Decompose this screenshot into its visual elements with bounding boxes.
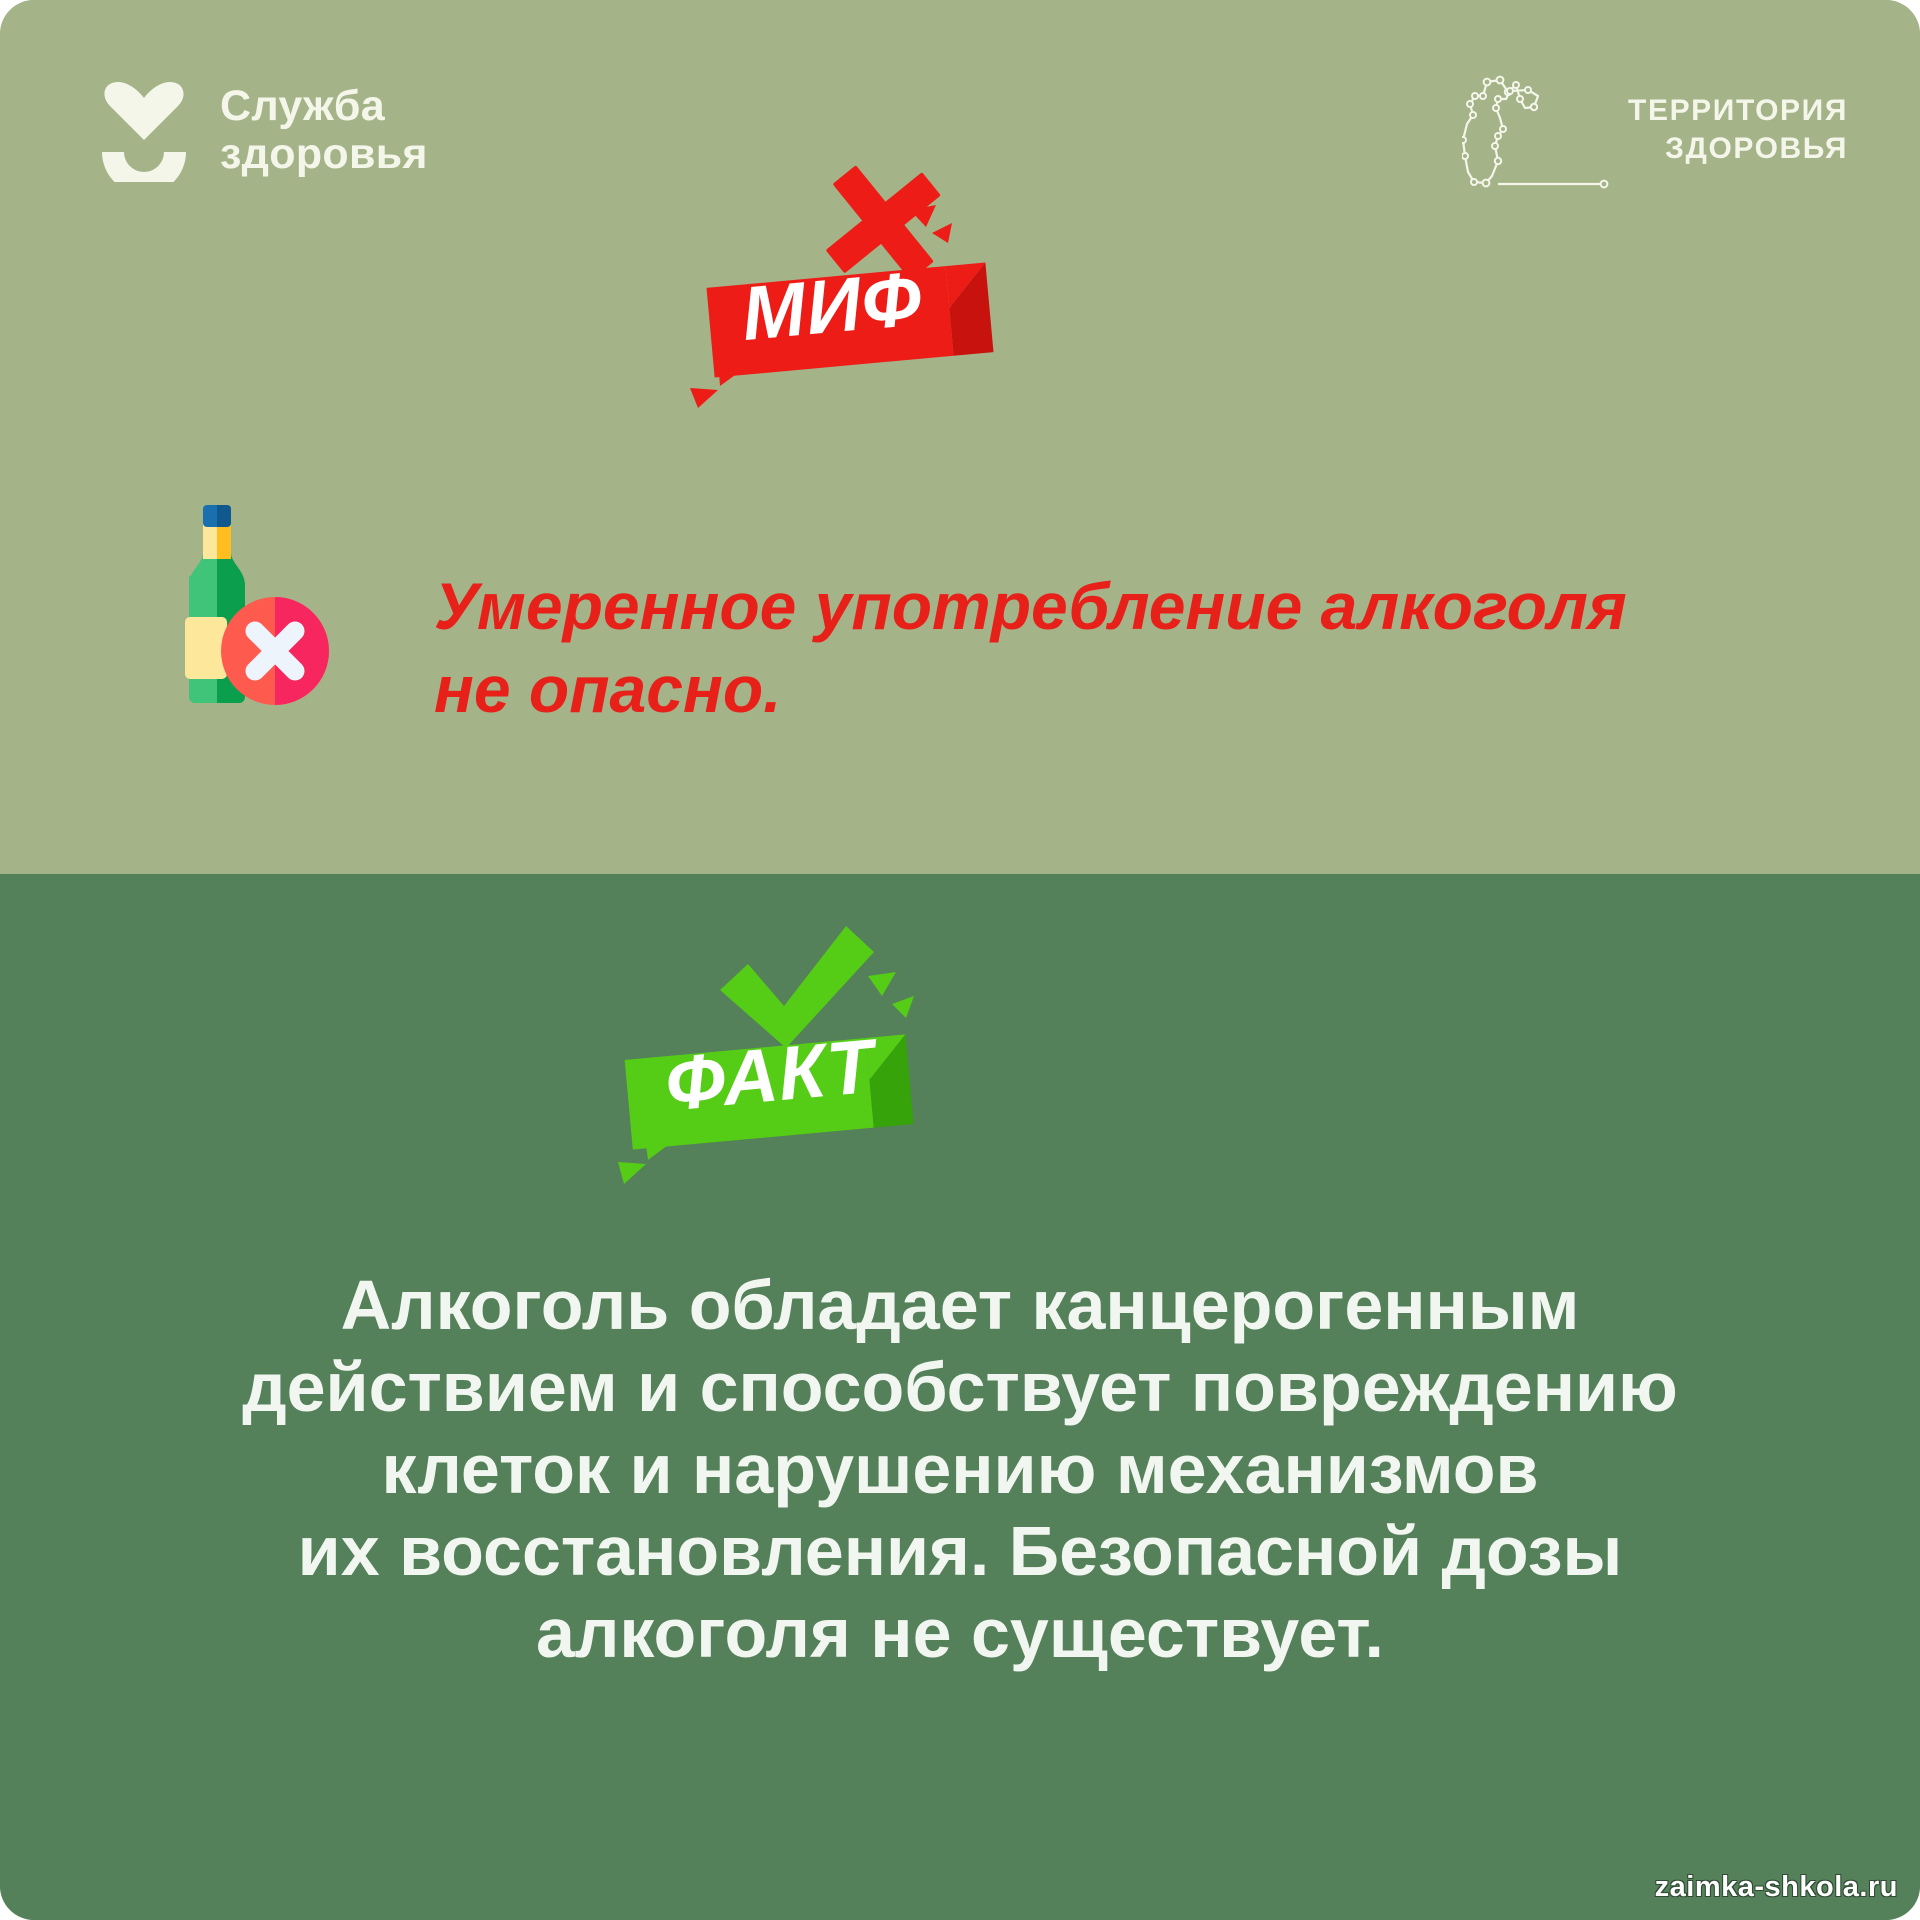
alcohol-bottle-prohibited-icon [155, 505, 335, 705]
fact-badge: ФАКТ [610, 920, 960, 1190]
brand-logo-label: Служба здоровья [220, 82, 428, 178]
watermark-url: zaimka-shkola.ru [1655, 1871, 1898, 1904]
infographic-poster: Служба здоровья [0, 0, 1920, 1920]
brand-logo-sluzhba-zdorovya: Служба здоровья [96, 78, 428, 182]
fact-statement: Алкоголь обладает канцерогенным действие… [160, 1265, 1760, 1674]
myth-badge: МИФ [700, 175, 1030, 425]
brand-logo-territoriya-zdorovya: ТЕРРИТОРИЯ ЗДОРОВЬЯ [1462, 66, 1848, 194]
myth-statement: Умеренное употребление алкоголя не опасн… [434, 565, 1684, 731]
region-map-outline-icon [1462, 66, 1612, 194]
brand-logo-right-label: ТЕРРИТОРИЯ ЗДОРОВЬЯ [1628, 92, 1848, 169]
heart-smile-icon [96, 78, 192, 182]
